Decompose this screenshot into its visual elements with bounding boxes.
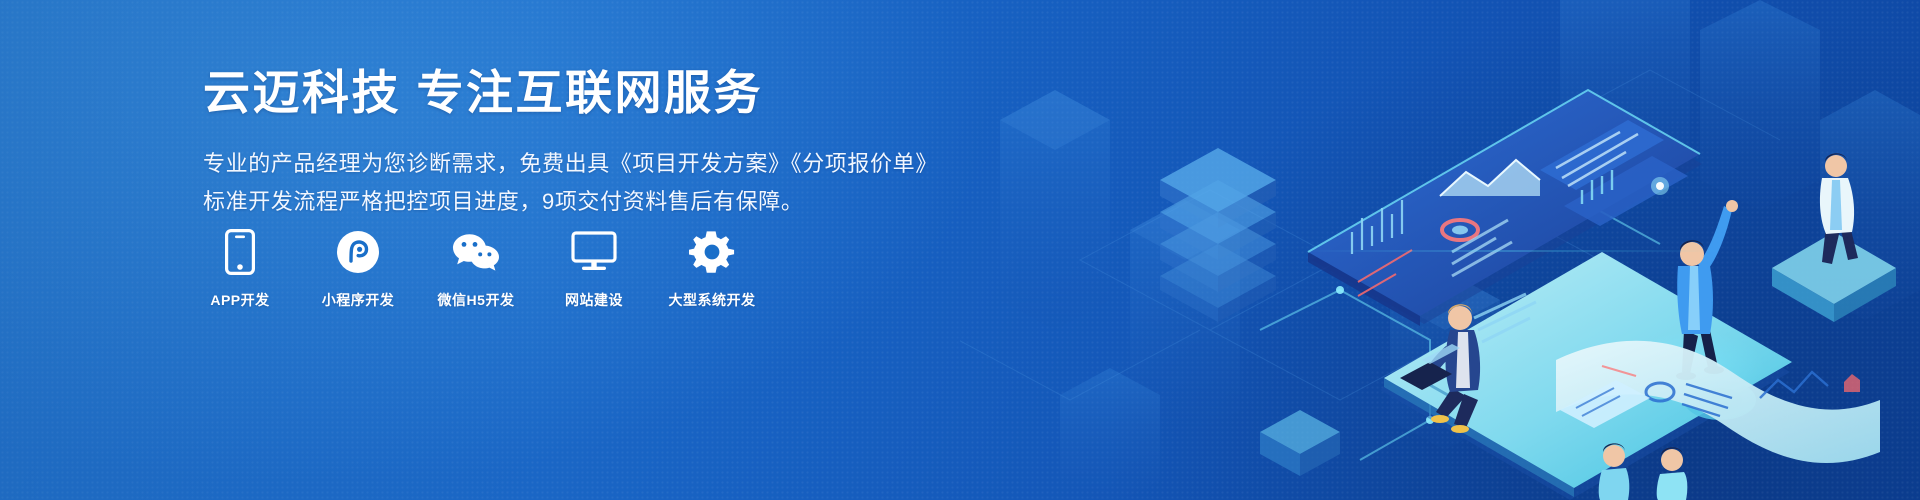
service-item-large-system[interactable]: 大型系统开发	[675, 228, 749, 310]
service-list: APP开发 小程序开发	[203, 228, 749, 310]
service-item-website[interactable]: 网站建设	[557, 228, 631, 310]
subtitle-line-2: 标准开发流程严格把控项目进度，9项交付资料售后有保障。	[203, 183, 963, 221]
wechat-icon	[451, 228, 501, 276]
gear-icon	[689, 228, 735, 276]
mini-program-icon	[335, 228, 381, 276]
service-label: 大型系统开发	[669, 290, 756, 310]
hero-banner: 云迈科技 专注互联网服务 专业的产品经理为您诊断需求，免费出具《项目开发方案》《…	[0, 0, 1920, 500]
service-item-wechat-h5[interactable]: 微信H5开发	[439, 228, 513, 310]
service-label: 小程序开发	[322, 290, 395, 310]
hero-subtitle: 专业的产品经理为您诊断需求，免费出具《项目开发方案》《分项报价单》 标准开发流程…	[203, 145, 963, 221]
hero-copy: 云迈科技 专注互联网服务 专业的产品经理为您诊断需求，免费出具《项目开发方案》《…	[203, 66, 963, 221]
isometric-tech-dashboard-illustration	[960, 0, 1920, 500]
mobile-phone-icon	[225, 228, 255, 276]
subtitle-line-1: 专业的产品经理为您诊断需求，免费出具《项目开发方案》《分项报价单》	[203, 145, 963, 183]
service-label: 微信H5开发	[438, 290, 515, 310]
service-item-app[interactable]: APP开发	[203, 228, 277, 310]
service-label: APP开发	[210, 290, 269, 310]
service-item-mini-program[interactable]: 小程序开发	[321, 228, 395, 310]
monitor-icon	[571, 228, 617, 276]
page-title: 云迈科技 专注互联网服务	[203, 66, 963, 120]
service-label: 网站建设	[565, 290, 623, 310]
